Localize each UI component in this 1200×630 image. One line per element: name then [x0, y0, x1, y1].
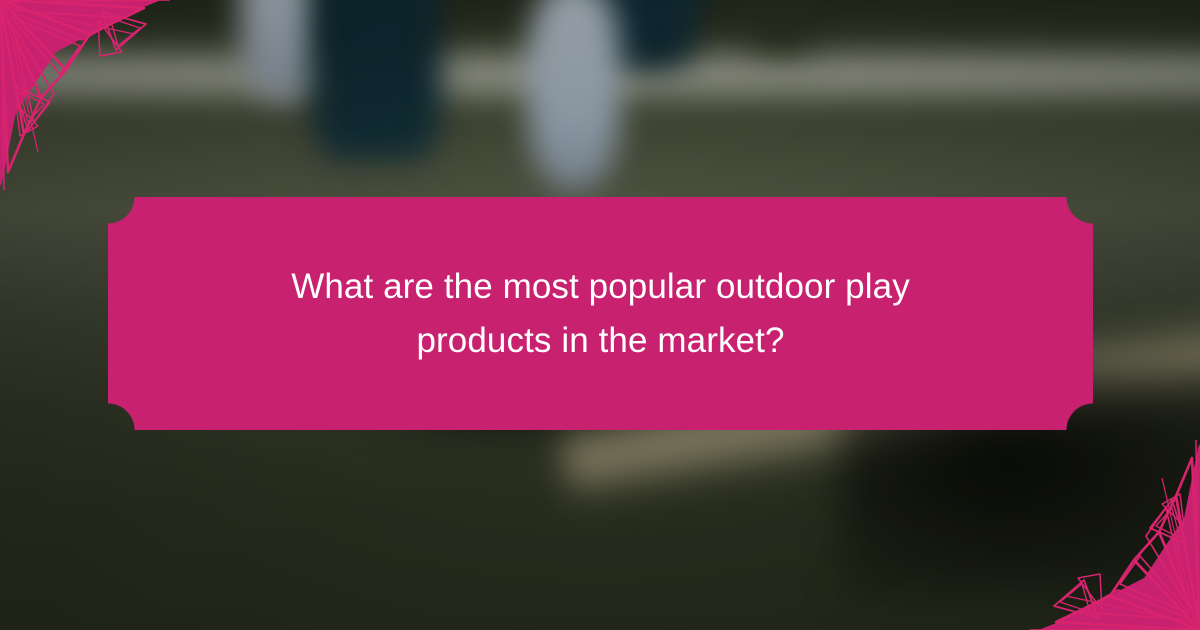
question-card: What are the most popular outdoor play p… — [108, 197, 1093, 430]
question-text: What are the most popular outdoor play p… — [197, 260, 1005, 366]
poster-canvas: What are the most popular outdoor play p… — [0, 0, 1200, 630]
